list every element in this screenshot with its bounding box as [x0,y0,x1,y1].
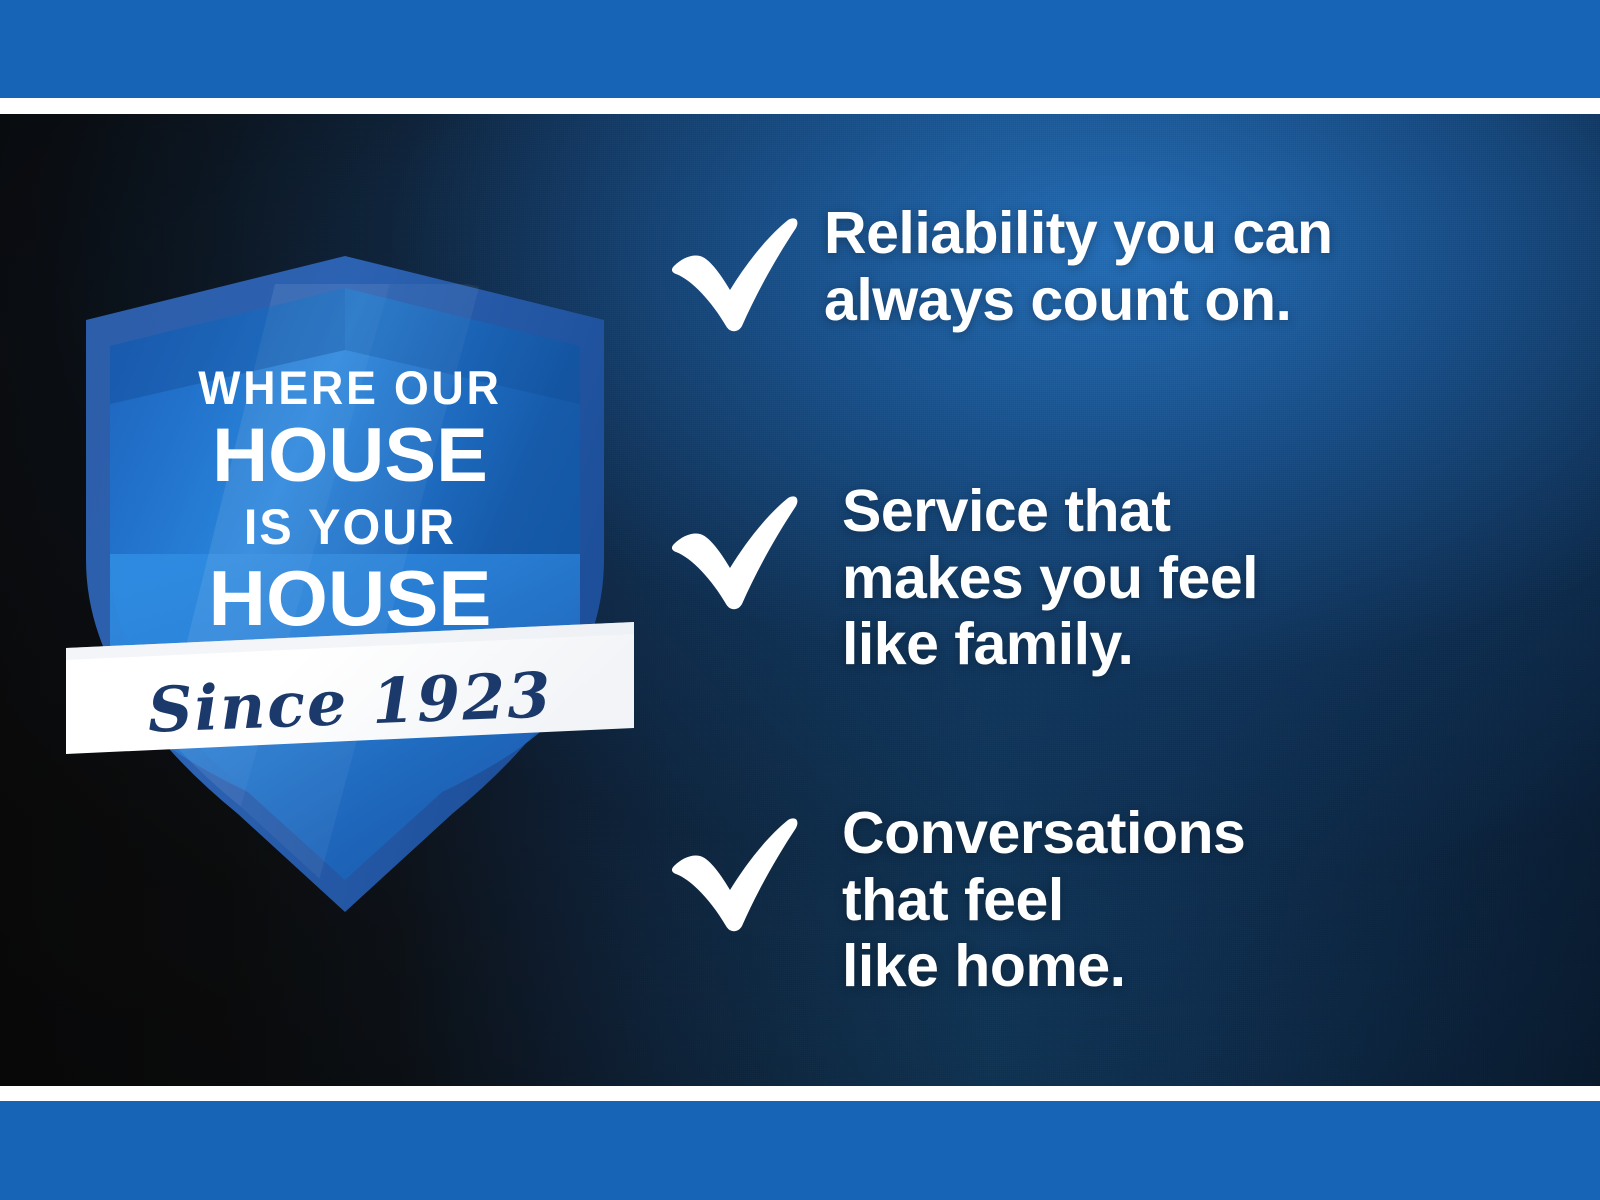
top-brand-bar [0,0,1600,98]
bottom-brand-bar [0,1101,1600,1200]
benefits-list: Reliability you can always count on. Ser… [668,200,1548,1000]
benefit-line: Service that [842,478,1548,545]
check-icon [668,214,800,334]
top-white-divider [0,98,1600,114]
logo-line-3: IS YOUR [69,502,632,552]
list-item: Conversations that feel like home. [668,800,1548,1000]
check-icon [668,814,800,934]
logo-line-4: HOUSE [54,559,646,637]
list-item: Reliability you can always count on. [668,200,1548,350]
logo-line-1: WHERE OUR [75,364,626,411]
main-content-area: WHERE OUR HOUSE IS YOUR HOUSE Since 1923… [0,114,1600,1086]
benefit-line: Reliability you can [824,200,1548,267]
benefit-line: Conversations [842,800,1548,867]
benefit-line: like family. [842,611,1548,678]
benefit-text: Reliability you can always count on. [800,200,1548,333]
benefit-line: like home. [842,933,1548,1000]
benefit-line: that feel [842,867,1548,934]
promo-graphic: WHERE OUR HOUSE IS YOUR HOUSE Since 1923… [0,0,1600,1200]
benefit-line: always count on. [824,267,1548,334]
shield-logo: WHERE OUR HOUSE IS YOUR HOUSE Since 1923 [60,254,640,954]
list-item: Service that makes you feel like family. [668,478,1548,678]
check-icon [668,492,800,612]
benefit-text: Service that makes you feel like family. [800,478,1548,678]
logo-line-2: HOUSE [54,418,646,494]
benefit-line: makes you feel [842,545,1548,612]
bottom-white-divider [0,1086,1600,1101]
benefit-text: Conversations that feel like home. [800,800,1548,1000]
